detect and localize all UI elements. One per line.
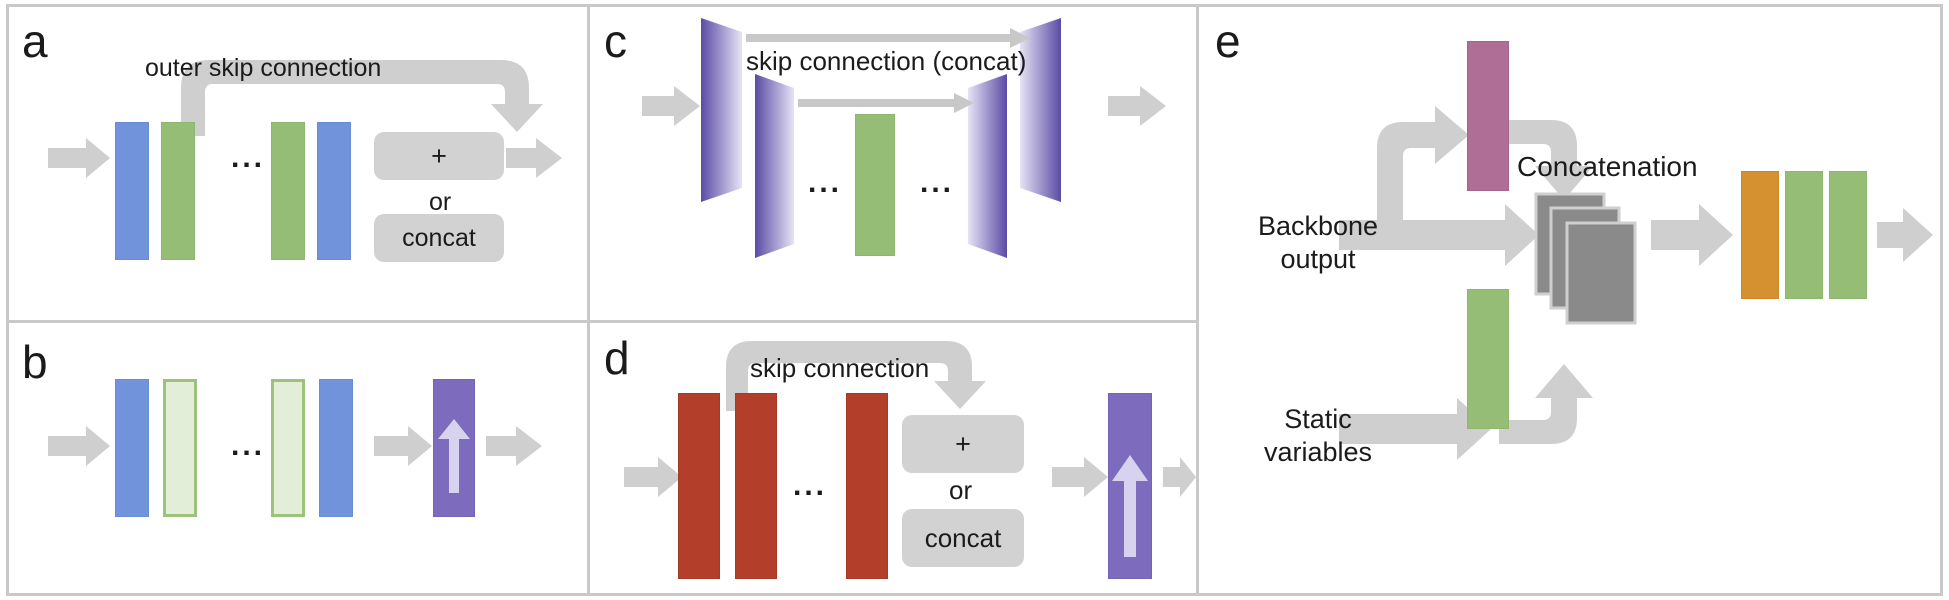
- block-conv-blue-2: [317, 122, 351, 260]
- upsample-arrow-icon: [438, 419, 470, 493]
- output-arrow-icon: [506, 138, 562, 178]
- panel-e-output-arrow-icon: [1877, 208, 1933, 262]
- figure-canvas: a ... outer skip connection + or concat: [0, 0, 1949, 600]
- upsample-arrow-icon: [1112, 455, 1148, 557]
- concatenation-label: Concatenation: [1517, 151, 1698, 183]
- panel-a-or-label: or: [429, 188, 451, 217]
- encoder-trapezoid-2: [755, 74, 794, 258]
- feature-map-stack: [1536, 194, 1635, 323]
- panel-c-skip-label: skip connection (concat): [746, 46, 1026, 77]
- panel-a-ellipsis: ...: [231, 141, 265, 174]
- panel-c-ellipsis-right: ...: [920, 166, 954, 199]
- panel-c-ellipsis-left: ...: [808, 166, 842, 199]
- block-bottleneck-green: [855, 114, 895, 256]
- backbone-output-label-line2: output: [1253, 244, 1383, 275]
- backbone-output-label-line1: Backbone: [1253, 211, 1383, 242]
- featuremap-to-head-arrow-icon: [1651, 204, 1733, 266]
- panel-b-upsample-arrow: [6, 323, 587, 596]
- block-head-green-2: [1829, 171, 1867, 299]
- panel-a: a ... outer skip connection + or concat: [6, 4, 587, 320]
- panel-a-plus-box: +: [374, 132, 504, 180]
- block-head-orange: [1741, 171, 1779, 299]
- panel-e-graphics: [1199, 4, 1943, 596]
- panel-b: b ...: [6, 323, 587, 596]
- block-conv-green-2: [271, 122, 305, 260]
- static-variables-label-line2: variables: [1243, 437, 1393, 468]
- input-arrow-icon: [642, 86, 700, 126]
- block-head-green-1: [1785, 171, 1823, 299]
- panel-d: d ... skip connection + or concat: [590, 323, 1196, 596]
- panel-a-concat-box: concat: [374, 214, 504, 262]
- static-variables-label-line1: Static: [1253, 404, 1383, 435]
- panel-d-upsample-arrow: [590, 323, 1196, 596]
- block-magenta: [1467, 41, 1509, 191]
- panel-a-skip-label: outer skip connection: [145, 54, 381, 83]
- skip-connection-outer-arrow-icon: [746, 28, 1030, 48]
- block-conv-green-1: [161, 122, 195, 260]
- encoder-trapezoid-1: [701, 18, 742, 202]
- concat-from-static-arrow-icon: [1499, 364, 1593, 444]
- panel-c: c: [590, 4, 1196, 320]
- input-arrow-icon: [48, 138, 110, 178]
- decoder-trapezoid-1: [968, 74, 1007, 258]
- output-arrow-icon: [1108, 86, 1166, 126]
- skip-connection-inner-arrow-icon: [798, 93, 974, 113]
- block-static-green: [1467, 289, 1509, 429]
- block-conv-blue-1: [115, 122, 149, 260]
- panel-e: e: [1199, 4, 1943, 596]
